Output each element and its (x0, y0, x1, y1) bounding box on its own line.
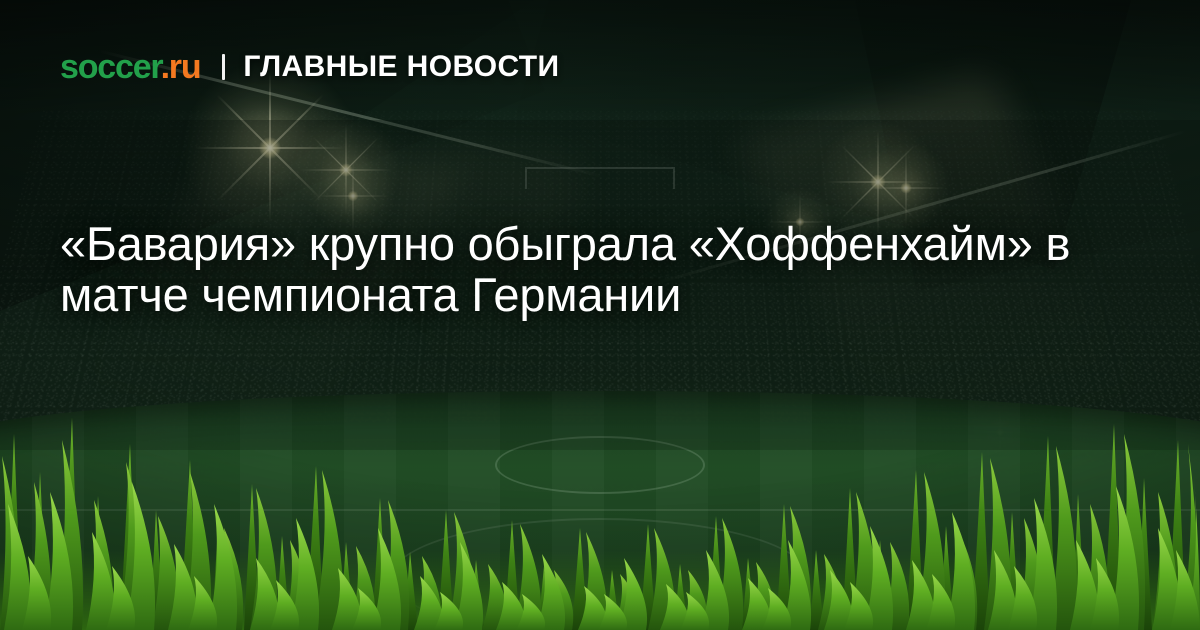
logo-primary-text: soccer (60, 48, 161, 86)
card-content: soccer.ru ГЛАВНЫЕ НОВОСТИ «Бавария» круп… (0, 0, 1200, 630)
page-title: «Бавария» крупно обыграла «Хоффенхайм» в… (60, 218, 1150, 320)
logo-suffix-text: .ru (161, 48, 201, 86)
section-kicker: ГЛАВНЫЕ НОВОСТИ (243, 52, 559, 82)
header-separator (222, 54, 225, 80)
site-logo[interactable]: soccer.ru (60, 50, 200, 84)
card-header: soccer.ru ГЛАВНЫЕ НОВОСТИ (60, 50, 560, 84)
news-share-card: soccer.ru ГЛАВНЫЕ НОВОСТИ «Бавария» круп… (0, 0, 1200, 630)
